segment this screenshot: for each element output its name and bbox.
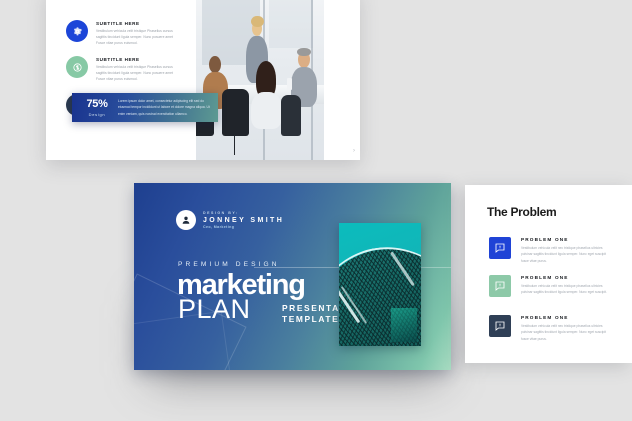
- feature-body: Vestibulum vehicula velit tristique Phas…: [96, 64, 182, 82]
- author-name: JONNEY SMITH: [203, 217, 284, 224]
- slide-about-us[interactable]: About Us! SUBTITLE HERE Vestibulum vehic…: [46, 0, 360, 160]
- stat-badge-label: Design: [76, 112, 118, 117]
- next-slide-arrow-icon[interactable]: ›: [353, 148, 355, 154]
- feature-subtitle: SUBTITLE HERE: [96, 21, 182, 26]
- author-kicker: DESIGN BY:: [203, 211, 284, 215]
- slide-the-problem[interactable]: The Problem PROBLEM ONE Vestibulum vehic…: [465, 185, 632, 363]
- gear-icon: [66, 20, 88, 42]
- feature-item[interactable]: SUBTITLE HERE Vestibulum vehicula velit …: [66, 56, 182, 82]
- stat-badge-value-group: 75% Design: [72, 99, 118, 117]
- feature-item[interactable]: SUBTITLE HERE Vestibulum vehicula velit …: [66, 20, 182, 46]
- currency-icon: [66, 56, 88, 78]
- about-title: About Us!: [66, 0, 135, 3]
- slide-title-line2: PLAN: [178, 296, 251, 323]
- alert-speech-bubble-icon: [489, 275, 511, 297]
- author-role: Ceo, Marketing: [203, 225, 284, 229]
- problem-body: Vestibulum vehicula velit nec tristique …: [521, 245, 607, 264]
- problem-heading: PROBLEM ONE: [521, 275, 607, 280]
- problem-heading: PROBLEM ONE: [521, 237, 607, 242]
- stat-badge-75: 75% Design Lorem ipsum dolor amet, conse…: [72, 93, 218, 122]
- problem-body: Vestibulum vehicula velit nec tristique …: [521, 283, 607, 296]
- building-photo: [339, 223, 421, 346]
- problem-body: Vestibulum vehicula velit nec tristique …: [521, 323, 607, 342]
- presentation-mockup-stage: About Us! SUBTITLE HERE Vestibulum vehic…: [0, 0, 632, 421]
- problem-item[interactable]: PROBLEM ONE Vestibulum vehicula velit ne…: [489, 315, 607, 342]
- about-photo: [196, 0, 342, 160]
- problem-title: The Problem: [487, 205, 556, 219]
- slide-marketing-plan[interactable]: DESIGN BY: JONNEY SMITH Ceo, Marketing P…: [134, 183, 451, 370]
- problem-heading: PROBLEM ONE: [521, 315, 607, 320]
- feature-body: Vestibulum vehicula velit tristique Phas…: [96, 28, 182, 46]
- problem-item[interactable]: PROBLEM ONE Vestibulum vehicula velit ne…: [489, 237, 607, 264]
- stat-badge-value: 75%: [76, 99, 118, 110]
- alert-speech-bubble-icon: [489, 315, 511, 337]
- about-content-column: About Us! SUBTITLE HERE Vestibulum vehic…: [46, 0, 196, 160]
- problem-item[interactable]: PROBLEM ONE Vestibulum vehicula velit ne…: [489, 275, 607, 297]
- feature-subtitle: SUBTITLE HERE: [96, 57, 182, 62]
- slide-eyebrow: PREMIUM DESIGN: [178, 261, 280, 268]
- stat-badge-body: Lorem ipsum dolor amet, consectetur adip…: [118, 98, 218, 118]
- user-avatar-icon: [176, 210, 196, 230]
- author-credit: DESIGN BY: JONNEY SMITH Ceo, Marketing: [176, 210, 284, 230]
- alert-speech-bubble-icon: [489, 237, 511, 259]
